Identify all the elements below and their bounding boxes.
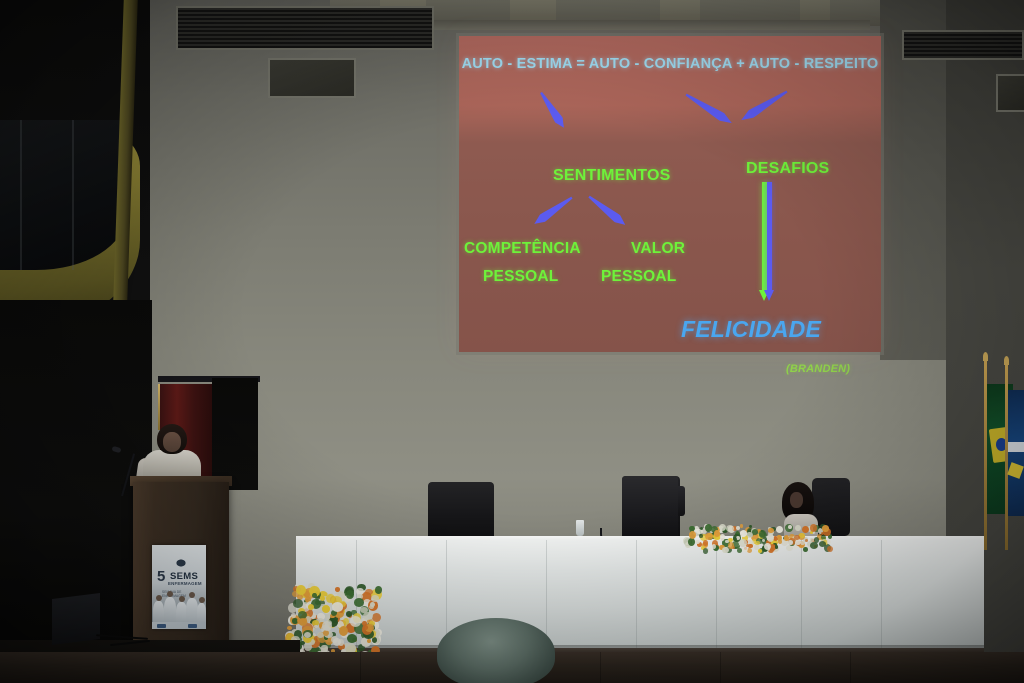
- slide-node-felicidade: FELICIDADE: [681, 316, 821, 343]
- flower-blossom: [699, 534, 703, 538]
- projection-screen: AUTO - ESTIMA = AUTO - CONFIANÇA + AUTO …: [459, 36, 881, 352]
- ventilation-grille-left: [176, 6, 434, 50]
- slide-node-sentimentos: SENTIMENTOS: [553, 167, 670, 185]
- flower-blossom: [802, 526, 809, 534]
- flower-blossom: [299, 618, 306, 626]
- banner-subtitle: ENFERMAGEM: [168, 581, 202, 586]
- arrow-to-valor: [586, 193, 628, 228]
- flower-blossom: [759, 530, 766, 537]
- flower-blossom: [737, 548, 742, 553]
- flower-blossom: [810, 542, 818, 548]
- flower-blossom: [322, 621, 332, 631]
- flower-blossom: [335, 587, 341, 592]
- flower-blossom: [703, 540, 708, 545]
- flower-blossom: [688, 538, 695, 546]
- flower-blossom: [365, 589, 373, 595]
- flower-blossom: [375, 586, 382, 593]
- flower-blossom: [287, 626, 292, 630]
- table-floral-arrangement: [683, 524, 833, 554]
- slide-node-valor: VALOR: [631, 240, 685, 258]
- presenter-face: [163, 432, 181, 452]
- banner-bird-icon: [173, 557, 189, 567]
- flower-blossom: [339, 626, 348, 636]
- flower-blossom: [703, 548, 708, 554]
- flower-blossom: [721, 538, 724, 541]
- flower-blossom: [350, 616, 361, 626]
- flower-blossom: [360, 607, 368, 613]
- flower-blossom: [320, 596, 325, 601]
- flower-blossom: [332, 602, 343, 611]
- arrow-to-felicidade: [762, 182, 772, 292]
- flower-blossom: [321, 645, 328, 651]
- flower-blossom: [739, 539, 746, 547]
- flower-blossom: [689, 531, 696, 539]
- state-flag: [1005, 364, 1024, 550]
- slide-node-competencia-line2: PESSOAL: [483, 268, 558, 286]
- flower-blossom: [367, 639, 371, 643]
- flower-blossom: [346, 590, 354, 599]
- slide-node-valor-line2: PESSOAL: [601, 268, 676, 286]
- flower-blossom: [312, 593, 316, 598]
- flower-blossom: [736, 526, 740, 530]
- flower-blossom: [805, 539, 808, 542]
- arrow-to-desafios-left: [684, 91, 735, 127]
- flower-blossom: [795, 525, 801, 531]
- flower-blossom: [326, 594, 335, 603]
- water-glass: [576, 520, 584, 536]
- flower-blossom: [776, 526, 783, 533]
- flower-blossom: [758, 549, 762, 553]
- arrow-to-sentimentos: [537, 90, 567, 130]
- slide-equation: AUTO - ESTIMA = AUTO - CONFIANÇA + AUTO …: [462, 56, 879, 72]
- flower-blossom: [768, 528, 774, 534]
- flower-blossom: [322, 605, 330, 613]
- flower-blossom: [827, 546, 833, 552]
- flower-blossom: [742, 547, 748, 553]
- flower-blossom: [293, 599, 303, 608]
- balcony-glass: [0, 120, 126, 270]
- flower-blossom: [740, 524, 744, 528]
- arrow-to-competencia: [532, 194, 575, 228]
- panelist-face: [790, 492, 803, 508]
- chair-left[interactable]: [428, 482, 494, 544]
- ventilation-grille-right: [902, 30, 1024, 60]
- banner-people-photo: [152, 589, 206, 623]
- flower-blossom: [371, 595, 379, 601]
- flower-blossom: [822, 525, 830, 532]
- banner-sponsor-bar: [152, 622, 206, 629]
- arrow-to-desafios-right: [739, 88, 790, 124]
- flower-blossom: [827, 540, 831, 544]
- flower-blossom: [803, 547, 808, 552]
- slide-node-competencia: COMPETÊNCIA: [464, 240, 581, 258]
- banner-number: 5: [157, 569, 165, 584]
- dark-doorway: [212, 378, 258, 490]
- flower-blossom: [352, 638, 357, 643]
- audience-head-foreground: [437, 618, 555, 683]
- flower-blossom: [363, 625, 369, 630]
- flower-blossom: [709, 548, 712, 551]
- flower-blossom: [748, 544, 753, 548]
- flower-blossom: [819, 541, 826, 547]
- flower-blossom: [719, 524, 726, 531]
- stage-monitor-speaker: [52, 593, 100, 645]
- flower-blossom: [343, 618, 349, 624]
- flower-blossom: [354, 598, 364, 607]
- flower-blossom: [777, 535, 781, 538]
- head-table: [296, 540, 984, 652]
- flower-blossom: [740, 531, 743, 534]
- flower-blossom: [788, 540, 793, 545]
- wall-window-left: [268, 58, 356, 98]
- flower-blossom: [314, 625, 318, 629]
- slide-node-desafios: DESAFIOS: [746, 160, 829, 178]
- auditorium-scene: AUTO - ESTIMA = AUTO - CONFIANÇA + AUTO …: [0, 0, 1024, 683]
- wall-window-right: [996, 74, 1024, 112]
- slide-attribution: (BRANDEN): [786, 363, 850, 375]
- podium-banner: 5 SEMS ENFERMAGEM SEMANA DE ENFERMAGEM: [152, 545, 206, 629]
- flower-blossom: [363, 612, 372, 620]
- flower-blossom: [755, 541, 759, 545]
